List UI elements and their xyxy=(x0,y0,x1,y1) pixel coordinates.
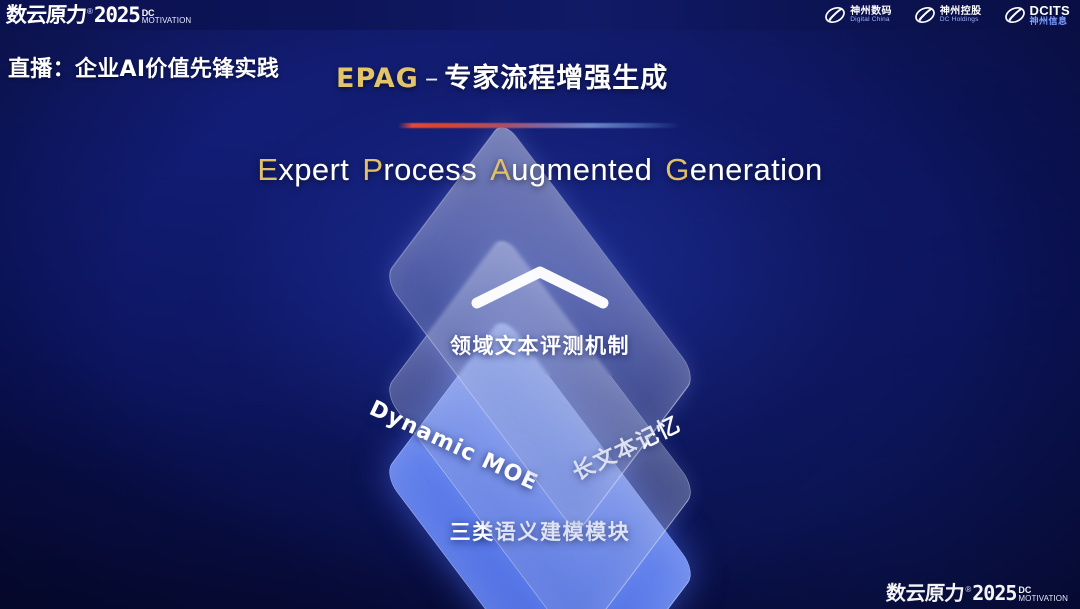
watermark-logo: 数云原力 ® 2025 DC MOTIVATION xyxy=(886,583,1068,603)
page-title: EPAG–专家流程增强生成 xyxy=(336,56,668,95)
partner-en-name: DC Holdings xyxy=(940,17,982,24)
slide-canvas: 数云原力 ® 2025 DC MOTIVATION 神州数码 Digital C… xyxy=(0,0,1080,609)
watermark-year: 2025 xyxy=(972,583,1016,603)
brand-logo-dc-motivation: DC MOTIVATION xyxy=(142,9,192,26)
expansion-rest: rocess xyxy=(383,152,477,187)
partner-logo-digital-china: 神州数码 Digital China xyxy=(824,5,892,25)
watermark-chinese: 数云原力 xyxy=(886,583,965,603)
watermark-motivation: MOTIVATION xyxy=(1018,595,1068,602)
expansion-initial: A xyxy=(490,152,511,187)
expansion-initial: P xyxy=(362,152,383,187)
top-bar: 数云原力 ® 2025 DC MOTIVATION 神州数码 Digital C… xyxy=(0,0,1080,30)
chevron-up-icon xyxy=(470,264,610,310)
expansion-word-augmented: Augmented xyxy=(490,152,652,187)
gradient-divider xyxy=(397,123,680,128)
brand-registered-mark: ® xyxy=(87,8,93,16)
watermark-dc-motivation: DC MOTIVATION xyxy=(1018,586,1068,603)
stack-layer-top-label: 领域文本评测机制 xyxy=(0,330,1080,360)
partner-logo-group: 神州数码 Digital China 神州控股 DC Holdings xyxy=(824,4,1080,26)
expansion-rest: eneration xyxy=(690,152,823,187)
expansion-initial: G xyxy=(665,152,690,187)
expansion-rest: xpert xyxy=(278,152,349,187)
brand-logo: 数云原力 ® 2025 DC MOTIVATION xyxy=(0,5,191,26)
page-title-dash: – xyxy=(425,63,439,94)
acronym-expansion: ExpertProcessAugmentedGeneration xyxy=(0,152,1080,188)
page-title-chinese: 专家流程增强生成 xyxy=(444,63,668,94)
partner-logo-dc-holdings: 神州控股 DC Holdings xyxy=(914,5,982,25)
expansion-word-process: Process xyxy=(362,152,477,187)
live-stream-title: 直播：企业AI价值先锋实践 xyxy=(8,51,279,83)
expansion-word-generation: Generation xyxy=(665,152,822,187)
brand-logo-motivation: MOTIVATION xyxy=(142,17,192,24)
partner-label-dc-holdings: 神州控股 DC Holdings xyxy=(940,7,982,24)
watermark-registered-mark: ® xyxy=(965,586,971,594)
brand-logo-chinese: 数云原力 xyxy=(5,5,86,26)
partner-logo-dcits: DCITS 神州信息 xyxy=(1004,4,1071,26)
partner-cn-name: 神州信息 xyxy=(1030,17,1071,26)
partner-label-digital-china: 神州数码 Digital China xyxy=(850,7,892,24)
swirl-logo-icon xyxy=(914,5,936,25)
expansion-word-expert: Expert xyxy=(257,152,349,187)
expansion-initial: E xyxy=(257,152,278,187)
swirl-logo-icon xyxy=(824,5,846,25)
page-title-acronym: EPAG xyxy=(336,63,419,94)
swirl-logo-icon xyxy=(1004,5,1026,25)
stack-layer-top[interactable]: 领域文本评测机制 xyxy=(0,236,1080,411)
partner-en-name: Digital China xyxy=(850,17,892,24)
expansion-rest: ugmented xyxy=(511,152,652,187)
brand-logo-year: 2025 xyxy=(94,5,140,26)
partner-label-dcits: DCITS 神州信息 xyxy=(1030,4,1071,26)
